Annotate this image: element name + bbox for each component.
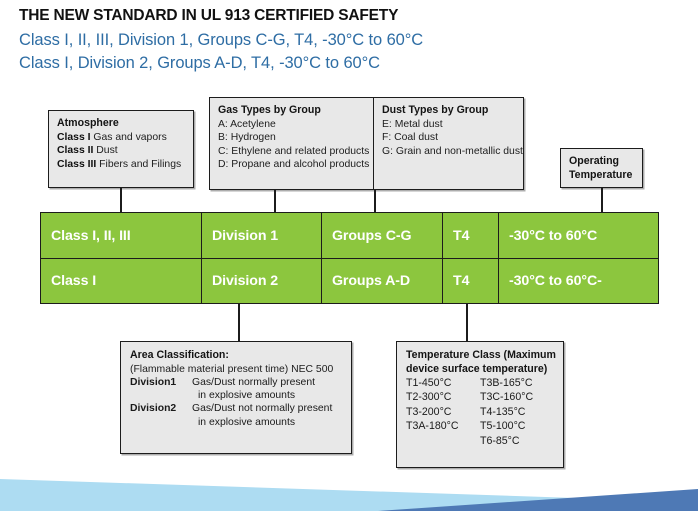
temperature-class-left: T3A-180°C — [406, 419, 480, 433]
temperature-class-left — [406, 434, 480, 448]
connector-atmosphere — [120, 188, 122, 212]
area-classification-value: Gas/Dust not normally present — [192, 402, 332, 415]
atmosphere-row-class-3: Class III Fibers and Filings — [57, 158, 193, 172]
cell-op-temp: -30°C to 60°C- — [498, 259, 658, 303]
temperature-class-row: T6-85°C — [406, 434, 563, 448]
connector-operating-temperature — [601, 188, 603, 212]
operating-temperature-line-2: Temperature — [569, 169, 642, 183]
page-title: THE NEW STANDARD IN UL 913 CERTIFIED SAF… — [19, 7, 398, 25]
temperature-class-title-line-1: Temperature Class (Maximum — [406, 349, 563, 363]
atmosphere-box-title: Atmosphere — [57, 117, 193, 131]
subtitle-line-2: Class I, Division 2, Groups A-D, T4, -30… — [19, 54, 380, 73]
dust-type-item: G: Grain and non-metallic dust — [382, 145, 524, 159]
temperature-class-right: T3B-165°C — [480, 376, 533, 390]
atmosphere-box: Atmosphere Class I Gas and vapors Class … — [48, 110, 194, 188]
temperature-class-row: T3A-180°C T5-100°C — [406, 419, 563, 433]
subtitle-line-1: Class I, II, III, Division 1, Groups C-G… — [19, 31, 423, 50]
atmosphere-row-value: Gas and vapors — [93, 132, 166, 143]
area-classification-continuation: in explosive amounts — [130, 416, 351, 429]
cell-class: Class I, II, III — [41, 213, 201, 258]
atmosphere-row-class-2: Class II Dust — [57, 144, 193, 158]
temperature-class-left: T2-300°C — [406, 390, 480, 404]
atmosphere-row-label: Class II — [57, 145, 93, 156]
gas-types-column: Gas Types by Group A: Acetylene B: Hydro… — [210, 104, 370, 172]
temperature-class-row: T2-300°C T3C-160°C — [406, 390, 563, 404]
slide-canvas: THE NEW STANDARD IN UL 913 CERTIFIED SAF… — [0, 0, 698, 511]
area-classification-label: Division2 — [130, 402, 192, 415]
cell-groups: Groups A-D — [321, 259, 442, 303]
cell-temp-class: T4 — [442, 213, 498, 258]
cell-class: Class I — [41, 259, 201, 303]
cell-groups: Groups C-G — [321, 213, 442, 258]
specification-table: Class I, II, III Division 1 Groups C-G T… — [40, 212, 659, 304]
temperature-class-right: T3C-160°C — [480, 390, 533, 404]
dust-types-column: Dust Types by Group E: Metal dust F: Coa… — [374, 104, 524, 158]
operating-temperature-box: Operating Temperature — [560, 148, 643, 188]
dust-type-item: E: Metal dust — [382, 118, 524, 132]
atmosphere-row-label: Class III — [57, 159, 96, 170]
connector-gas-types — [274, 190, 276, 212]
gas-and-dust-types-box: Gas Types by Group A: Acetylene B: Hydro… — [209, 97, 524, 190]
temperature-class-title-line-2: device surface temperature) — [406, 363, 563, 377]
temperature-class-row: T1-450°C T3B-165°C — [406, 376, 563, 390]
gas-types-title: Gas Types by Group — [218, 104, 370, 118]
table-row: Class I, II, III Division 1 Groups C-G T… — [41, 213, 658, 258]
area-classification-title: Area Classification: — [130, 349, 351, 363]
area-classification-row: Division2 Gas/Dust not normally present — [130, 402, 351, 415]
temperature-class-left: T3-200°C — [406, 405, 480, 419]
area-classification-row: Division1 Gas/Dust normally present — [130, 376, 351, 389]
gas-type-item: C: Ethylene and related products — [218, 145, 370, 159]
operating-temperature-line-1: Operating — [569, 155, 642, 169]
connector-dust-types — [374, 190, 376, 212]
dust-type-item: F: Coal dust — [382, 131, 524, 145]
atmosphere-row-value: Dust — [96, 145, 117, 156]
atmosphere-row-value: Fibers and Filings — [99, 159, 181, 170]
temperature-class-right: T4-135°C — [480, 405, 525, 419]
area-classification-label: Division1 — [130, 376, 192, 389]
temperature-class-box: Temperature Class (Maximum device surfac… — [396, 341, 564, 468]
temperature-class-right: T6-85°C — [480, 434, 520, 448]
dust-types-title: Dust Types by Group — [382, 104, 524, 118]
cell-division: Division 2 — [201, 259, 321, 303]
area-classification-subtitle: (Flammable material present time) NEC 50… — [130, 363, 351, 377]
temperature-class-left: T1-450°C — [406, 376, 480, 390]
connector-area-classification — [238, 304, 240, 341]
cell-temp-class: T4 — [442, 259, 498, 303]
gas-type-item: D: Propane and alcohol products — [218, 158, 370, 172]
temperature-class-right: T5-100°C — [480, 419, 525, 433]
cell-division: Division 1 — [201, 213, 321, 258]
table-row: Class I Division 2 Groups A-D T4 -30°C t… — [41, 258, 658, 303]
cell-op-temp: -30°C to 60°C — [498, 213, 658, 258]
area-classification-continuation: in explosive amounts — [130, 389, 351, 402]
atmosphere-row-label: Class I — [57, 132, 91, 143]
area-classification-box: Area Classification: (Flammable material… — [120, 341, 352, 454]
gas-type-item: A: Acetylene — [218, 118, 370, 132]
atmosphere-row-class-1: Class I Gas and vapors — [57, 131, 193, 145]
area-classification-value: Gas/Dust normally present — [192, 376, 315, 389]
connector-temperature-class — [466, 304, 468, 341]
gas-type-item: B: Hydrogen — [218, 131, 370, 145]
temperature-class-row: T3-200°C T4-135°C — [406, 405, 563, 419]
footer-wave-decoration — [0, 455, 698, 511]
